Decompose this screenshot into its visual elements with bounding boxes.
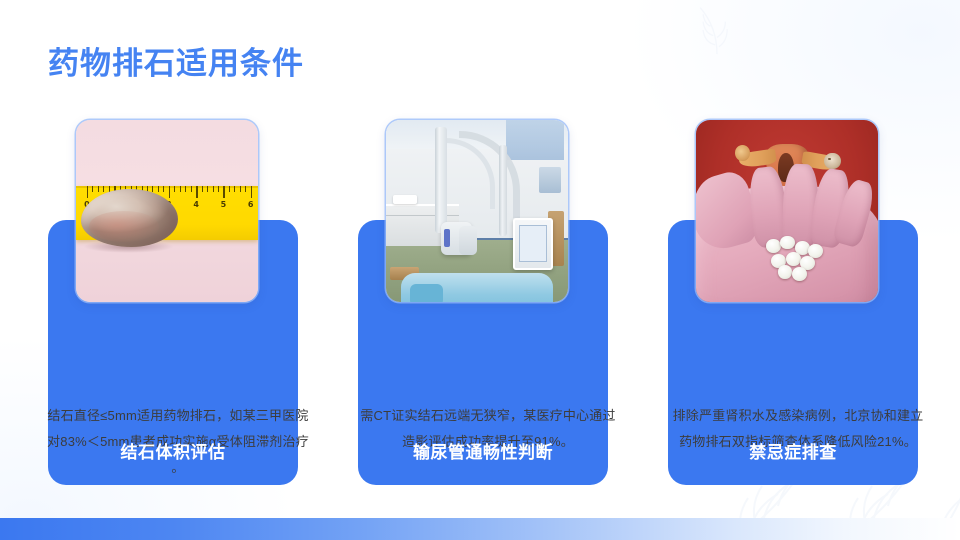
card-title: 禁忌症排查: [668, 438, 918, 463]
card-stone-volume[interactable]: 0 1 2 3 4 5 6 结石体积评估: [38, 120, 318, 500]
cards-row: 0 1 2 3 4 5 6 结石体积评估: [0, 0, 960, 540]
ruler-number: 5: [221, 200, 227, 209]
card-ureter-patency[interactable]: 输尿管通畅性判断: [348, 120, 628, 500]
ruler-number: 6: [248, 200, 254, 209]
card-contraindication-screening[interactable]: 禁忌症排查: [658, 120, 938, 500]
card-title: 输尿管通畅性判断: [358, 438, 608, 463]
kidney-stone-on-ruler-photo: 0 1 2 3 4 5 6: [76, 120, 258, 302]
radiology-imaging-room-photo: [386, 120, 568, 302]
bottom-gradient-band: [0, 518, 960, 540]
gloved-hand-with-pills-photo: [696, 120, 878, 302]
kidney-stone-shape: [81, 189, 177, 247]
card-title: 结石体积评估: [48, 438, 298, 463]
pills-group: [765, 235, 827, 279]
ruler-number: 4: [193, 200, 199, 209]
slide-canvas: 药物排石适用条件: [0, 0, 960, 540]
